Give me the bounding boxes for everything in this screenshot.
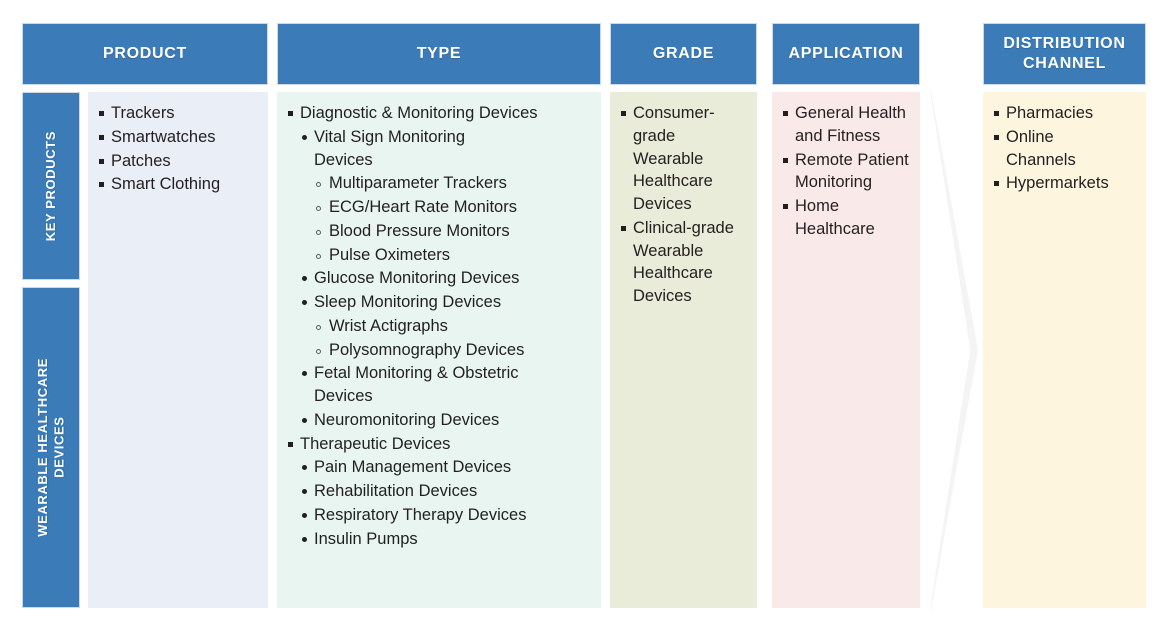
list-item: Sleep Monitoring Devices	[287, 291, 591, 314]
column-header-product: PRODUCT	[22, 23, 268, 85]
list-grade: Consumer-grade Wearable Healthcare Devic…	[620, 102, 747, 308]
list-item: Patches	[98, 150, 258, 173]
list-type: Diagnostic & Monitoring Devices Vital Si…	[287, 102, 591, 551]
list-item: Trackers	[98, 102, 258, 125]
column-header-grade: GRADE	[610, 23, 757, 85]
list-item: Respiratory Therapy Devices	[287, 504, 591, 527]
sidebar-item-key-products: KEY PRODUCTS	[22, 92, 80, 280]
column-header-grade-label: GRADE	[653, 44, 714, 64]
list-item: Smart Clothing	[98, 173, 258, 196]
list-item: Pain Management Devices	[287, 456, 591, 479]
column-header-application-label: APPLICATION	[789, 44, 904, 64]
list-item: Glucose Monitoring Devices	[287, 267, 591, 290]
sidebar-item-wearable-healthcare-devices: WEARABLE HEALTHCARE DEVICES	[22, 287, 80, 608]
list-item: ECG/Heart Rate Monitors	[287, 196, 591, 219]
list-item: Polysomnography Devices	[287, 339, 591, 362]
infographic-board: PRODUCT TYPE GRADE APPLICATION DISTRIBUT…	[0, 0, 1170, 626]
list-item: Fetal Monitoring & Obstetric Devices	[287, 362, 576, 408]
sidebar-item-wearable-healthcare-devices-label: WEARABLE HEALTHCARE DEVICES	[35, 358, 68, 537]
list-item: Online Channels	[993, 126, 1116, 172]
list-item: Neuromonitoring Devices	[287, 409, 591, 432]
list-item: General Health and Fitness	[782, 102, 910, 148]
chevron-right-icon	[930, 90, 978, 610]
list-item: Therapeutic Devices	[287, 433, 591, 456]
column-header-type-label: TYPE	[417, 44, 462, 64]
list-item: Pharmacies	[993, 102, 1136, 125]
panel-type: Diagnostic & Monitoring Devices Vital Si…	[277, 92, 601, 608]
list-item: Diagnostic & Monitoring Devices	[287, 102, 591, 125]
list-item: Hypermarkets	[993, 172, 1136, 195]
list-item: Blood Pressure Monitors	[287, 220, 591, 243]
sidebar-item-key-products-label: KEY PRODUCTS	[43, 131, 59, 241]
list-item: Remote Patient Monitoring	[782, 149, 910, 195]
column-header-distribution-channel-label: DISTRIBUTION CHANNEL	[984, 34, 1145, 73]
list-item: Home Healthcare	[782, 195, 910, 241]
column-header-application: APPLICATION	[772, 23, 920, 85]
list-item: Pulse Oximeters	[287, 244, 591, 267]
column-header-distribution-channel: DISTRIBUTION CHANNEL	[983, 23, 1146, 85]
panel-grade: Consumer-grade Wearable Healthcare Devic…	[610, 92, 757, 608]
list-item: Vital Sign Monitoring Devices	[287, 126, 524, 172]
list-product: Trackers Smartwatches Patches Smart Clot…	[98, 102, 258, 196]
list-item: Wrist Actigraphs	[287, 315, 591, 338]
column-header-type: TYPE	[277, 23, 601, 85]
list-item: Insulin Pumps	[287, 528, 591, 551]
list-item: Consumer-grade Wearable Healthcare Devic…	[620, 102, 747, 216]
list-application: General Health and Fitness Remote Patien…	[782, 102, 910, 241]
list-item: Smartwatches	[98, 126, 258, 149]
list-item: Multiparameter Trackers	[287, 172, 591, 195]
panel-distribution-channel: Pharmacies Online Channels Hypermarkets	[983, 92, 1146, 608]
list-item: Rehabilitation Devices	[287, 480, 591, 503]
list-item: Clinical-grade Wearable Healthcare Devic…	[620, 217, 747, 308]
panel-application: General Health and Fitness Remote Patien…	[772, 92, 920, 608]
list-distribution-channel: Pharmacies Online Channels Hypermarkets	[993, 102, 1136, 195]
panel-product: Trackers Smartwatches Patches Smart Clot…	[88, 92, 268, 608]
column-header-product-label: PRODUCT	[103, 44, 187, 64]
